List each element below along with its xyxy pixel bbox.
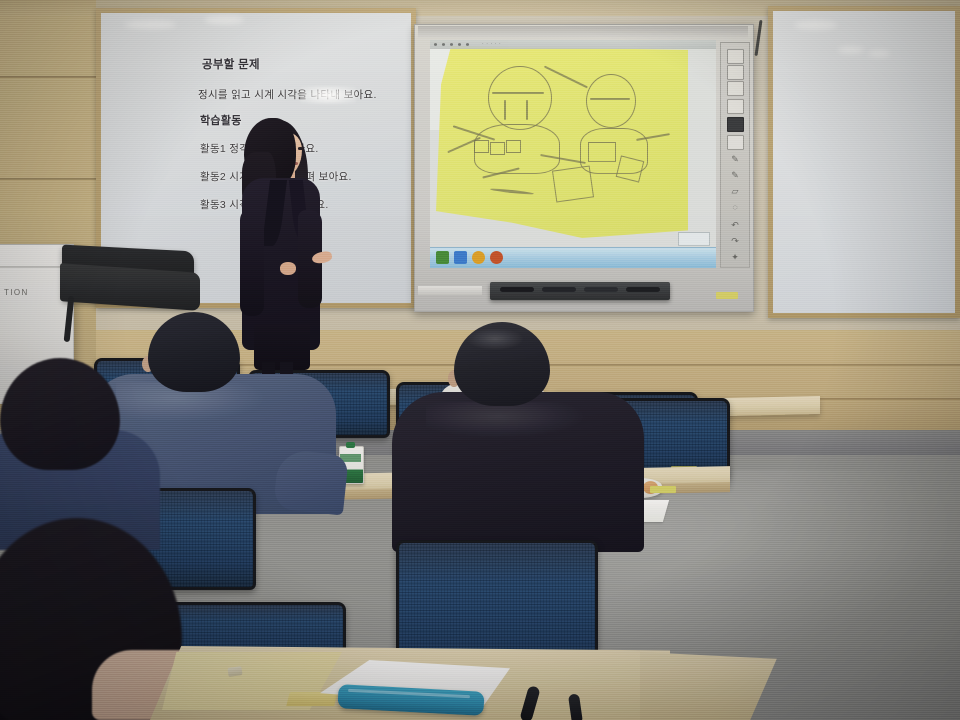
desk-name-tag: [650, 486, 676, 493]
drawing-desk: [552, 166, 594, 203]
drawing-detail: [588, 142, 616, 162]
taskbar-icon-1[interactable]: [436, 251, 449, 264]
juice-carton-cap: [346, 442, 355, 448]
taskbar-icon-2[interactable]: [454, 251, 467, 264]
app-status-badge: [678, 232, 710, 246]
page-icon[interactable]: [727, 65, 744, 80]
page-icon[interactable]: [727, 81, 744, 96]
app-menu-label: · · · · ·: [482, 41, 501, 47]
eraser: [227, 666, 242, 677]
marker-pen[interactable]: [500, 287, 534, 292]
fill-icon[interactable]: [727, 117, 744, 132]
folder-tab: [286, 692, 337, 706]
drawing-stroke: [492, 92, 544, 94]
undo-icon[interactable]: ↶: [729, 219, 741, 231]
attendee-hair-highlight: [466, 328, 524, 350]
iwb-left-plate: [418, 286, 482, 295]
shape-icon[interactable]: [727, 135, 744, 150]
iwb-projected-screen[interactable]: · · · · ·: [430, 40, 716, 268]
windows-taskbar[interactable]: [430, 247, 716, 268]
marker-pen[interactable]: [584, 287, 618, 292]
cabinet-label-text: TION: [4, 288, 64, 297]
presenter-arm: [240, 208, 264, 316]
app-menu-bar[interactable]: · · · · ·: [430, 40, 716, 49]
drawing-stroke: [504, 100, 506, 120]
presenter-eye: [298, 147, 303, 150]
redo-icon[interactable]: ↷: [729, 235, 741, 247]
page-icon[interactable]: [727, 49, 744, 64]
drawing-detail: [506, 140, 521, 153]
marker-pen[interactable]: [626, 287, 660, 292]
attendee-head: [148, 312, 240, 392]
taskbar-icon-3[interactable]: [472, 251, 485, 264]
marker-pen-tray[interactable]: [490, 282, 670, 300]
classroom-photo-scene: 공부할 문제 정시를 읽고 시계 시각을 나타내 보아요. 학습활동 활동1 정…: [0, 0, 960, 720]
attendee-shoulder-highlight: [426, 402, 586, 438]
highlighter-icon[interactable]: ▱: [729, 185, 741, 197]
drawing-stroke: [590, 98, 630, 100]
drawing-detail: [490, 142, 505, 155]
iwb-tool-rail[interactable]: ✎ ✎ ▱ ◌ ↶ ↷ ✦: [720, 42, 750, 268]
drawing-head-right: [586, 74, 636, 128]
drawing-detail: [474, 140, 489, 153]
slide-title: 공부할 문제: [202, 60, 260, 72]
marker-pen[interactable]: [542, 287, 576, 292]
eraser-icon[interactable]: ◌: [729, 201, 741, 213]
pen-icon[interactable]: ✎: [729, 169, 741, 181]
iwb-top-bezel: [418, 26, 748, 38]
select-icon[interactable]: [727, 99, 744, 114]
seated-attendee-dark-suit: [392, 322, 644, 552]
drawing-stroke: [526, 100, 528, 120]
clear-icon[interactable]: ✦: [729, 251, 741, 263]
iwb-brand-badge: [716, 292, 738, 299]
presenter-hand: [280, 262, 296, 275]
taskbar-icon-4[interactable]: [490, 251, 503, 264]
blank-whiteboard: [768, 6, 960, 318]
drawing-head-left: [488, 66, 552, 130]
projector-glare-spot: [300, 86, 356, 104]
pen-icon[interactable]: ✎: [729, 153, 741, 165]
